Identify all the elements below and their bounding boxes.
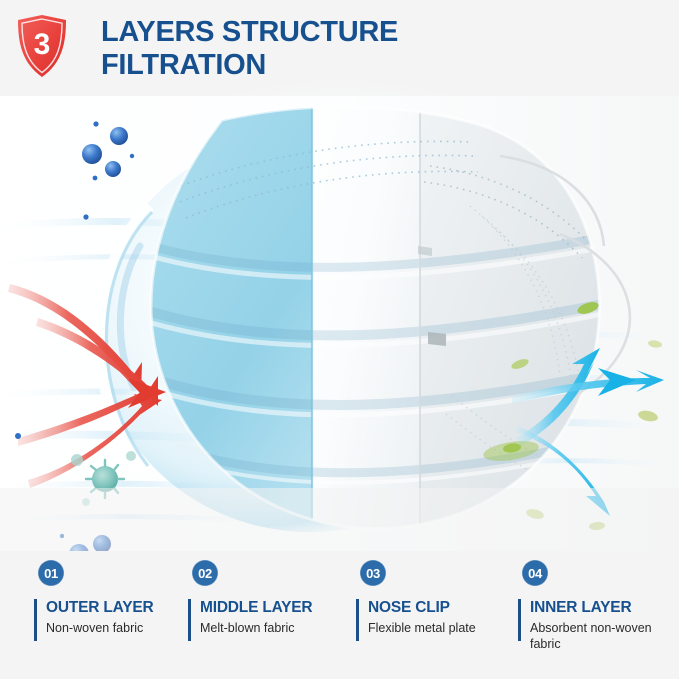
legend: 01 OUTER LAYER Non-woven fabric 02 MIDDL… <box>0 560 679 679</box>
legend-title: MIDDLE LAYER <box>200 598 348 617</box>
header: 3 LAYERS STRUCTURE FILTRATION <box>0 0 679 100</box>
legend-subtitle: Absorbent non-woven fabric <box>530 620 668 652</box>
legend-item-outer-layer[interactable]: 01 OUTER LAYER Non-woven fabric <box>34 560 194 636</box>
legend-bar <box>188 599 191 641</box>
legend-badge-01: 01 <box>38 560 64 586</box>
legend-item-inner-layer[interactable]: 04 INNER LAYER Absorbent non-woven fabri… <box>518 560 668 652</box>
legend-title: NOSE CLIP <box>368 598 516 617</box>
legend-badge-03: 03 <box>360 560 386 586</box>
legend-badge-04: 04 <box>522 560 548 586</box>
legend-subtitle: Flexible metal plate <box>368 620 516 636</box>
legend-title: OUTER LAYER <box>46 598 194 617</box>
title-line-1: LAYERS STRUCTURE <box>101 16 661 49</box>
title-line-2: FILTRATION <box>101 49 661 82</box>
shield-icon: 3 <box>16 13 68 79</box>
legend-item-nose-clip[interactable]: 03 NOSE CLIP Flexible metal plate <box>356 560 516 636</box>
legend-subtitle: Melt-blown fabric <box>200 620 348 636</box>
mask-illustration <box>0 96 679 551</box>
infographic-root: 3 LAYERS STRUCTURE FILTRATION <box>0 0 679 679</box>
legend-subtitle: Non-woven fabric <box>46 620 194 636</box>
page-title: LAYERS STRUCTURE FILTRATION <box>101 16 661 82</box>
legend-bar <box>356 599 359 641</box>
legend-bar <box>518 599 521 641</box>
legend-item-middle-layer[interactable]: 02 MIDDLE LAYER Melt-blown fabric <box>188 560 348 636</box>
legend-badge-02: 02 <box>192 560 218 586</box>
legend-bar <box>34 599 37 641</box>
legend-title: INNER LAYER <box>530 598 668 617</box>
shield-number: 3 <box>16 13 68 79</box>
nose-clip <box>428 332 446 346</box>
